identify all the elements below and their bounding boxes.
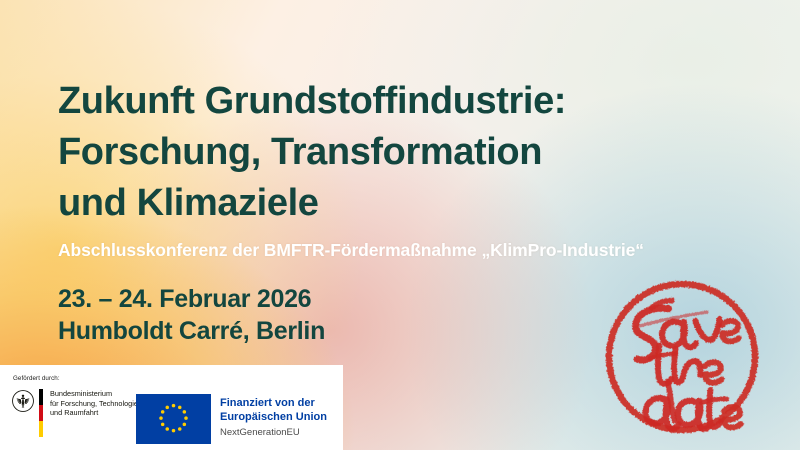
- ministry-line-1: Bundesministerium: [50, 389, 138, 399]
- eu-line-1: Finanziert von der: [220, 396, 327, 410]
- title-line-3: und Klimaziele: [58, 178, 708, 229]
- event-date: 23. – 24. Februar 2026: [58, 283, 325, 315]
- stamp-graphic: [592, 266, 771, 447]
- eu-line-2: Europäischen Union: [220, 410, 327, 424]
- event-venue: Humboldt Carré, Berlin: [58, 315, 325, 347]
- ministry-name: Bundesministerium für Forschung, Technol…: [50, 389, 138, 418]
- page-title: Zukunft Grundstoffindustrie: Forschung, …: [58, 76, 708, 229]
- bundesadler-eagle-icon: [12, 390, 34, 412]
- eu-stars-icon: [136, 394, 211, 444]
- subtitle: Abschlusskonferenz der BMFTR-Fördermaßna…: [58, 240, 644, 261]
- ministry-line-2: für Forschung, Technologie: [50, 399, 138, 409]
- german-flag-bar: [39, 389, 43, 437]
- save-the-date-poster: Zukunft Grundstoffindustrie: Forschung, …: [0, 0, 800, 450]
- ministry-line-3: und Raumfahrt: [50, 408, 138, 418]
- event-details: 23. – 24. Februar 2026 Humboldt Carré, B…: [58, 283, 325, 347]
- eu-funding-text: Finanziert von der Europäischen Union Ne…: [220, 396, 327, 439]
- bmftr-logo: Bundesministerium für Forschung, Technol…: [12, 389, 138, 437]
- title-line-1: Zukunft Grundstoffindustrie:: [58, 76, 708, 127]
- title-line-2: Forschung, Transformation: [58, 127, 708, 178]
- funded-by-label: Gefördert durch:: [13, 375, 60, 382]
- stamp-ring: [604, 279, 760, 435]
- eu-funding-logo: Finanziert von der Europäischen Union Ne…: [136, 394, 327, 444]
- eu-flag: [136, 394, 211, 444]
- funder-logo-panel: Gefördert durch: Bundesministerium für F…: [0, 365, 343, 450]
- save-the-date-stamp: [592, 266, 771, 447]
- eu-programme-name: NextGenerationEU: [220, 426, 327, 439]
